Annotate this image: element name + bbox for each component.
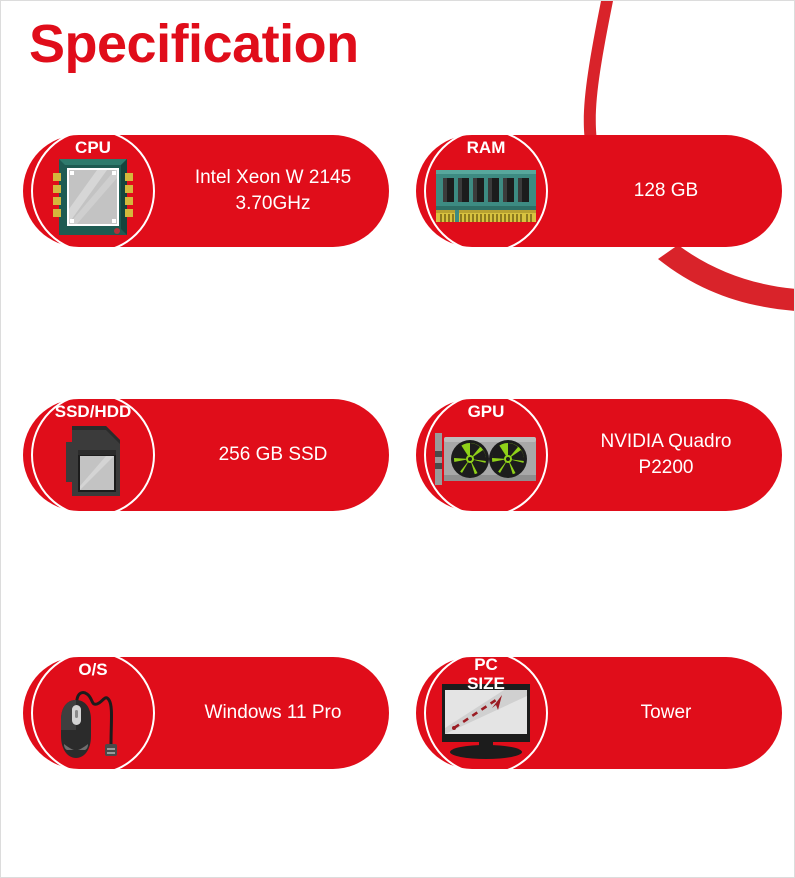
spec-card-grid: CPU Intel Xeon W 2145 3.70GHz	[1, 1, 795, 878]
spec-card-cpu[interactable]: CPU Intel Xeon W 2145 3.70GHz	[23, 135, 389, 247]
spec-card-gpu[interactable]: GPU NVIDIA Quadro P2200	[416, 399, 782, 511]
memory-card-icon	[37, 417, 149, 505]
card-value: Intel Xeon W 2145 3.70GHz	[163, 135, 383, 247]
card-label: SSD/HDD	[31, 402, 155, 421]
card-value: 256 GB SSD	[163, 399, 383, 511]
card-value: Windows 11 Pro	[163, 657, 383, 769]
graphics-card-icon	[430, 417, 542, 505]
card-label: RAM	[424, 138, 548, 157]
specification-page: Specification	[0, 0, 795, 878]
card-label: PC SIZE	[424, 655, 548, 693]
card-label: O/S	[31, 660, 155, 679]
card-value: 128 GB	[556, 135, 776, 247]
computer-mouse-icon	[37, 675, 149, 763]
ram-module-icon	[430, 153, 542, 241]
spec-card-pc-size[interactable]: PC SIZE Tower	[416, 657, 782, 769]
card-value: NVIDIA Quadro P2200	[556, 399, 776, 511]
card-label: GPU	[424, 402, 548, 421]
card-value: Tower	[556, 657, 776, 769]
spec-card-storage[interactable]: SSD/HDD 256 GB SSD	[23, 399, 389, 511]
spec-card-ram[interactable]: RAM 128 GB	[416, 135, 782, 247]
cpu-chip-icon	[37, 153, 149, 241]
card-label: CPU	[31, 138, 155, 157]
spec-card-os[interactable]: O/S Windows 11 Pro	[23, 657, 389, 769]
